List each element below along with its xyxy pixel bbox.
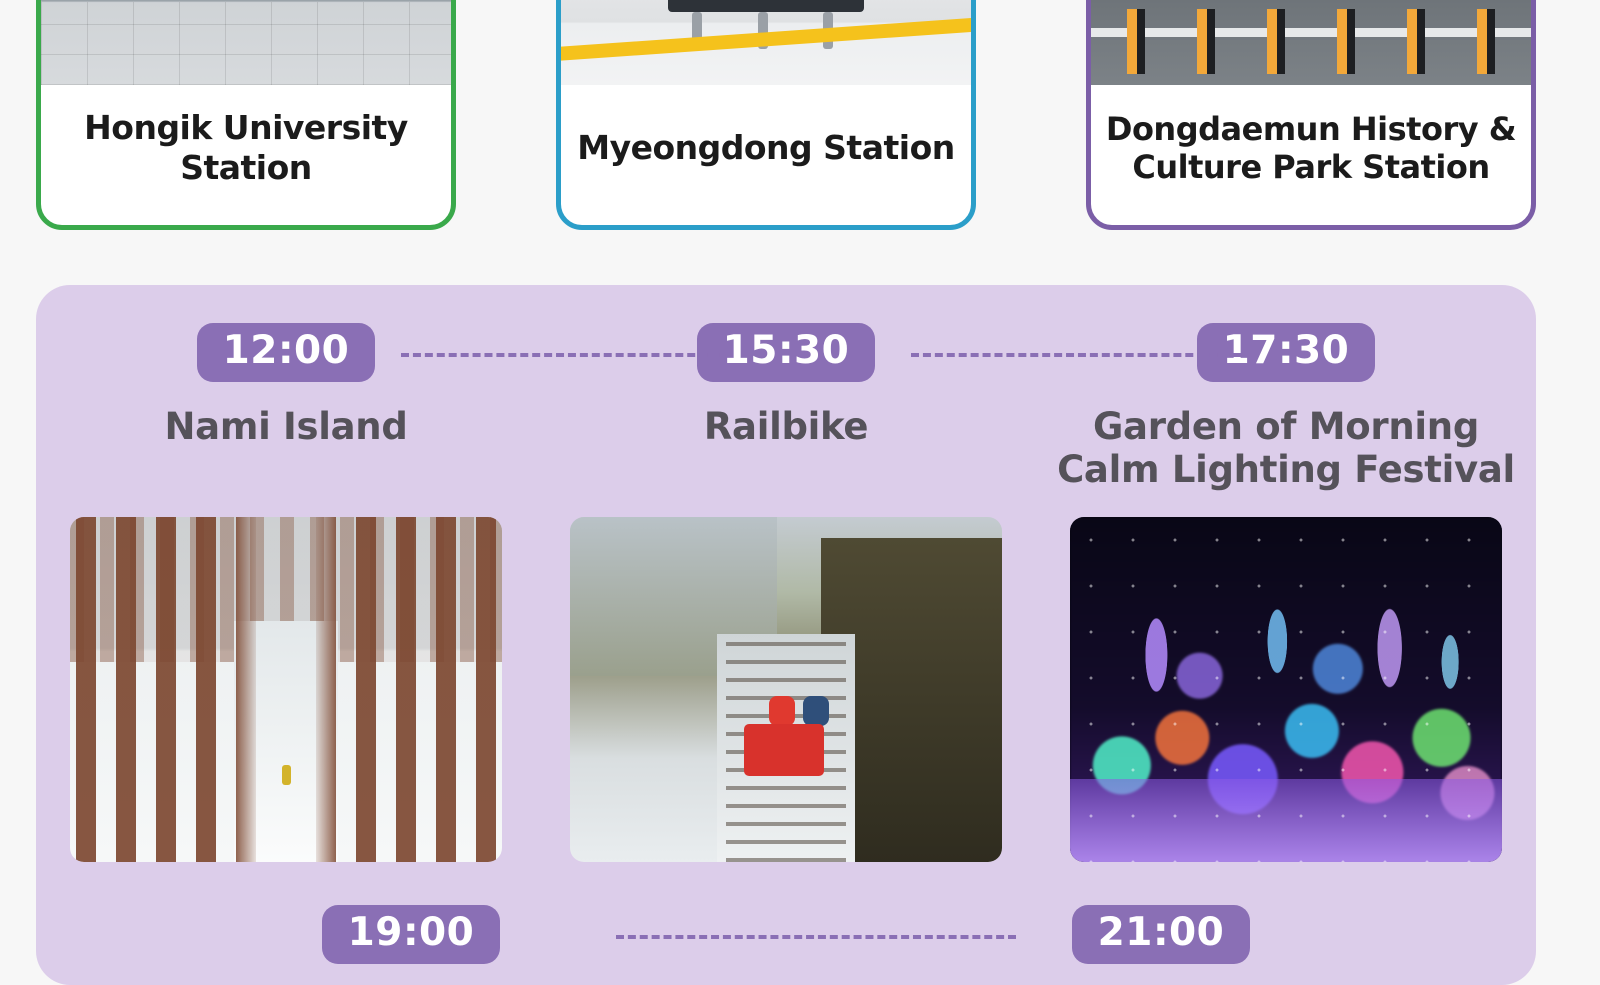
timeline-row-1: 12:00 15:30 17:30 — [36, 323, 1536, 382]
railbike-cart-shape — [744, 724, 824, 776]
bench-shape — [668, 0, 865, 12]
timeline-row-2: 19:00 21:00 — [36, 905, 1536, 964]
snowy-tree-avenue-photo — [70, 517, 502, 862]
time-badge[interactable]: 12:00 — [197, 323, 376, 382]
falling-snow-shape — [1070, 517, 1502, 862]
station-card-hongik-university[interactable]: Hongik University Station — [36, 0, 456, 230]
timeline-connector — [616, 935, 1016, 939]
station-card-label: Hongik University Station — [41, 85, 451, 225]
activity-photo-slot — [36, 517, 536, 862]
tree-trunks-shape — [70, 517, 502, 862]
station-card-label: Myeongdong Station — [561, 85, 971, 225]
illuminated-garden-photo — [1070, 517, 1502, 862]
station-card-dongdaemun[interactable]: Dongdaemun History & Culture Park Statio… — [1086, 0, 1536, 230]
activity-photo-row — [36, 517, 1536, 862]
walking-person-shape — [282, 765, 291, 785]
railbike-on-snowy-track-photo — [570, 517, 1002, 862]
rider-shape — [769, 696, 795, 726]
timeline-connector — [401, 353, 731, 357]
activity-title: Railbike — [536, 405, 1036, 492]
activity-title-row: Nami Island Railbike Garden of Morning C… — [36, 405, 1536, 492]
activity-photo-slot — [1036, 517, 1536, 862]
winter-plaza-photo — [41, 0, 451, 85]
timeline-connector — [911, 353, 1241, 357]
activity-title: Garden of Morning Calm Lighting Festival — [1036, 405, 1536, 492]
activity-title: Nami Island — [36, 405, 536, 492]
rider-shape — [803, 696, 829, 726]
street-barriers-photo — [1091, 0, 1531, 85]
time-badge[interactable]: 19:00 — [322, 905, 501, 964]
station-card-label: Dongdaemun History & Culture Park Statio… — [1091, 85, 1531, 225]
subway-platform-photo — [561, 0, 971, 85]
activity-photo-slot — [536, 517, 1036, 862]
station-card-row: Hongik University Station Myeongdong Sta… — [0, 0, 1600, 230]
station-card-myeongdong[interactable]: Myeongdong Station — [556, 0, 976, 230]
itinerary-panel: 12:00 15:30 17:30 Nami Island Railbike G… — [36, 285, 1536, 985]
time-badge[interactable]: 21:00 — [1072, 905, 1251, 964]
bollard-posts-shape — [1091, 9, 1531, 73]
